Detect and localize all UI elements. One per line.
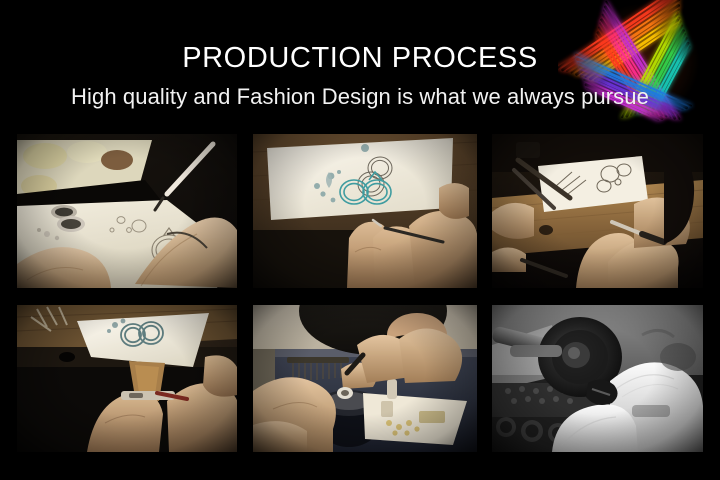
gallery-cell-2[interactable]	[253, 134, 477, 288]
photo-gallery-grid	[0, 0, 720, 480]
photo-ring-forming	[17, 305, 237, 452]
photo-design-drafting	[253, 134, 477, 288]
gallery-cell-6[interactable]	[492, 305, 703, 452]
gallery-cell-1[interactable]	[17, 134, 237, 288]
gallery-cell-3[interactable]	[492, 134, 703, 288]
photo-design-sketching	[17, 134, 237, 288]
slide-canvas: PRODUCTION PROCESS High quality and Fash…	[0, 0, 720, 480]
photo-polishing	[492, 305, 703, 452]
photo-stone-setting	[253, 305, 477, 452]
photo-hand-fabrication	[492, 134, 703, 288]
gallery-cell-4[interactable]	[17, 305, 237, 452]
gallery-cell-5[interactable]	[253, 305, 477, 452]
